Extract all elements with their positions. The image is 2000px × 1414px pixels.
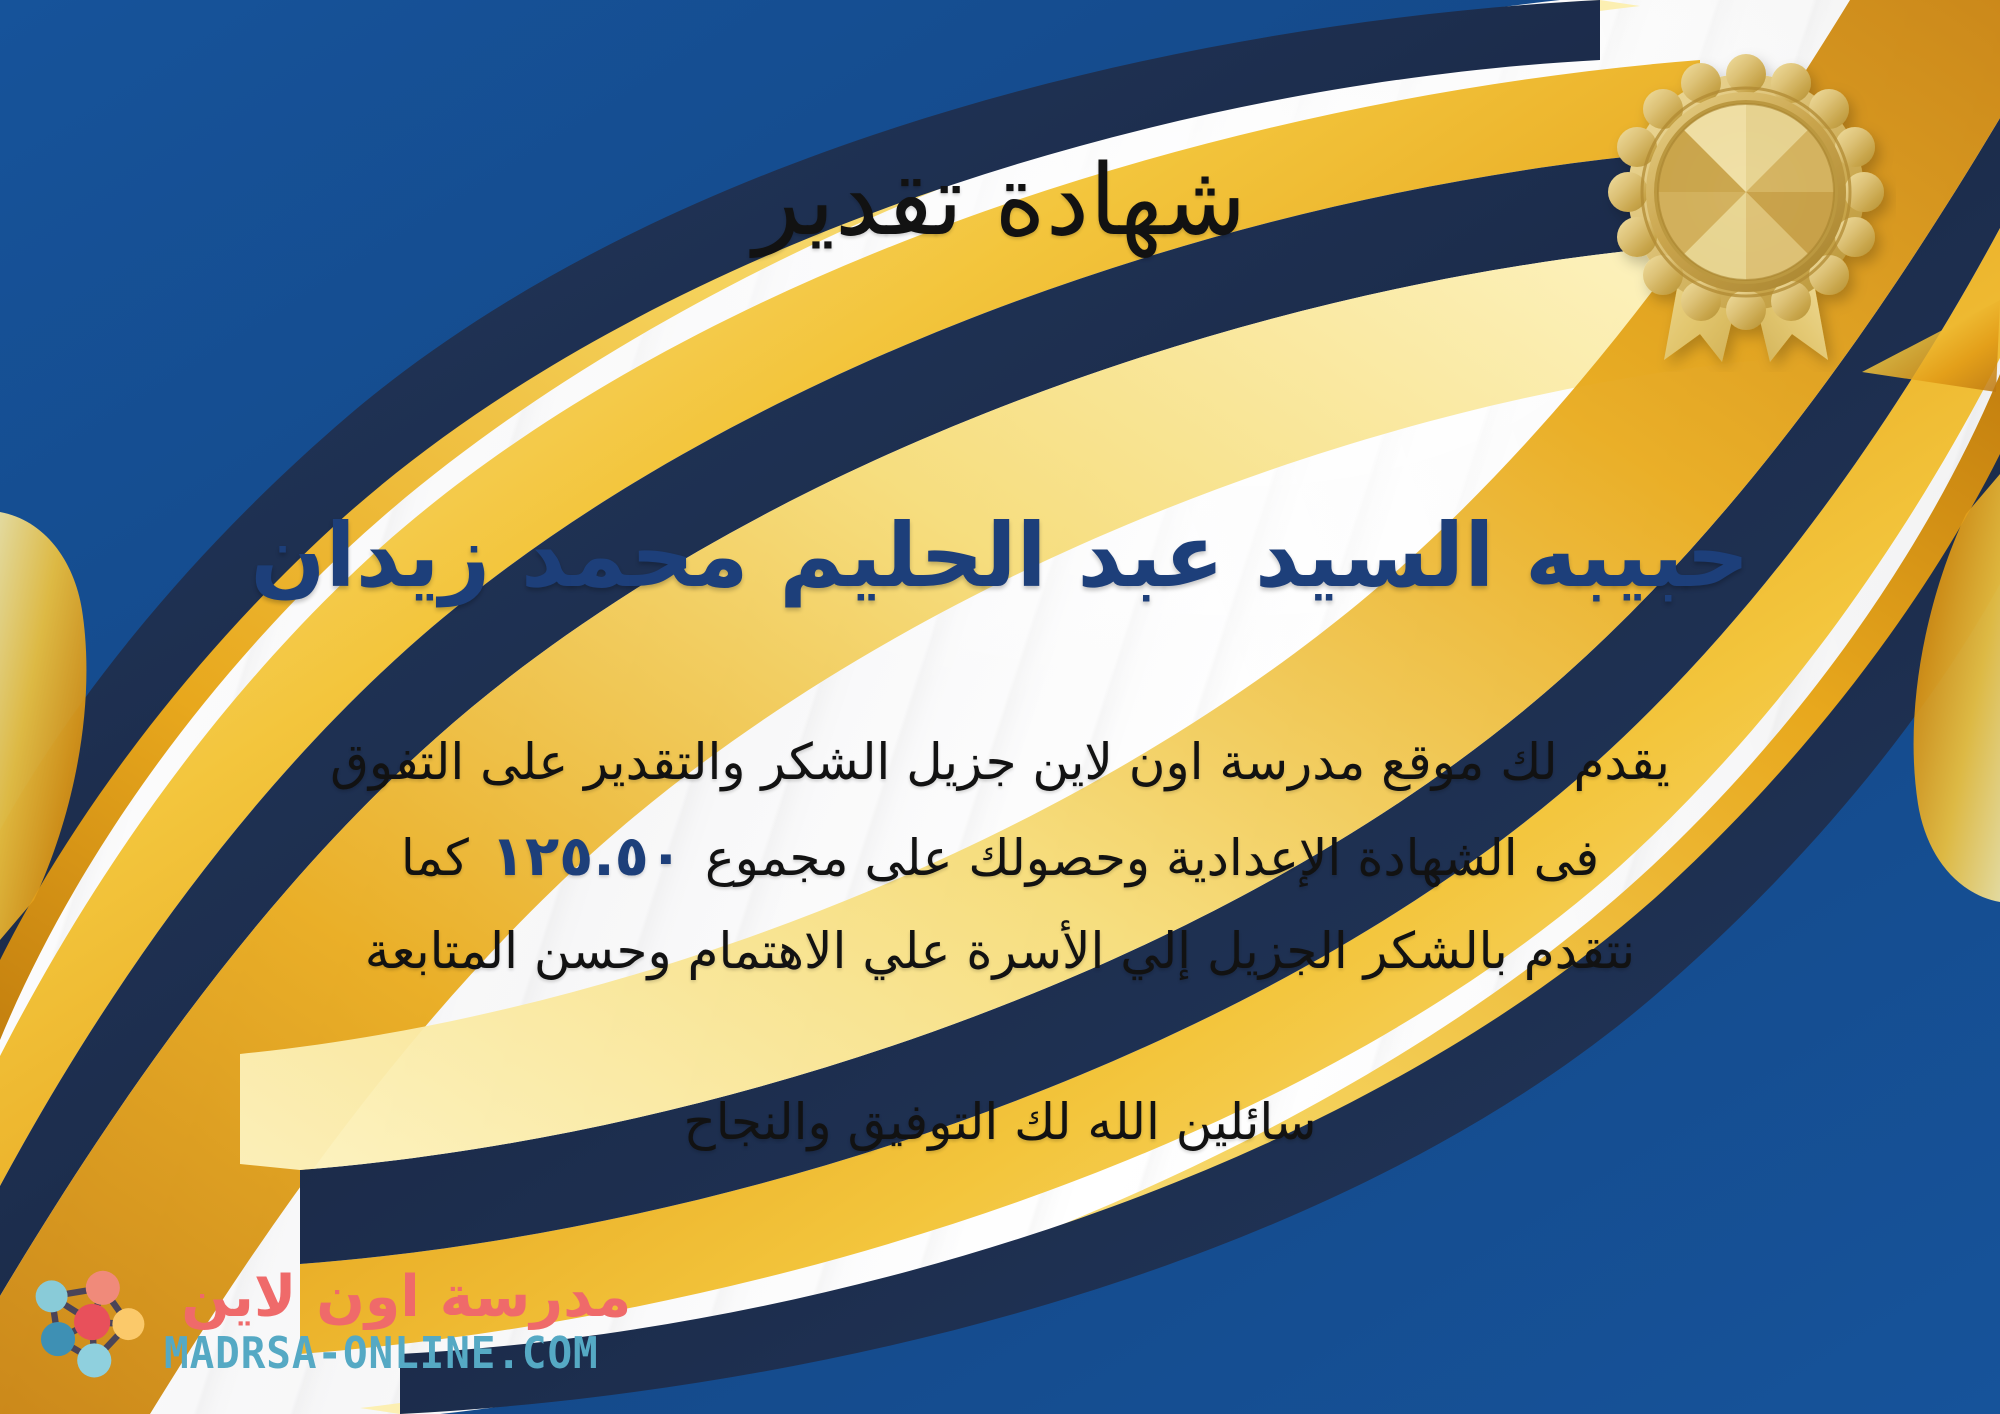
- body-line-2-prefix: فى الشهادة الإعدادية وحصولك على مجموع: [705, 829, 1599, 887]
- network-nodes-icon: [26, 1258, 154, 1386]
- body-line-1: يقدم لك موقع مدرسة اون لاين جزيل الشكر و…: [80, 718, 1920, 807]
- recipient-name: حبيبه السيد عبد الحليم محمد زيدان: [0, 508, 2000, 605]
- certificate-canvas: شهادة تقدير حبيبه السيد عبد الحليم محمد …: [0, 0, 2000, 1414]
- brand-url[interactable]: MADRSA-ONLINE.COM: [164, 1332, 599, 1376]
- body-line-3: نتقدم بالشكر الجزيل إلي الأسرة علي الاهت…: [80, 907, 1920, 996]
- brand-logo[interactable]: مدرسة اون لاين MADRSA-ONLINE.COM: [26, 1258, 631, 1386]
- body-line-2-suffix: كما: [401, 829, 469, 887]
- body-line-2: فى الشهادة الإعدادية وحصولك على مجموع١٢٥…: [80, 807, 1920, 907]
- certificate-title: شهادة تقدير: [0, 150, 2000, 253]
- certificate-body: يقدم لك موقع مدرسة اون لاين جزيل الشكر و…: [80, 718, 1920, 996]
- certificate-content: شهادة تقدير حبيبه السيد عبد الحليم محمد …: [0, 0, 2000, 1414]
- closing-wish: سائلين الله لك التوفيق والنجاح: [0, 1082, 2000, 1162]
- total-score-value: ١٢٥.٥٠: [469, 824, 705, 889]
- brand-text-block: مدرسة اون لاين MADRSA-ONLINE.COM: [164, 1269, 631, 1376]
- brand-arabic-name: مدرسة اون لاين: [181, 1269, 631, 1326]
